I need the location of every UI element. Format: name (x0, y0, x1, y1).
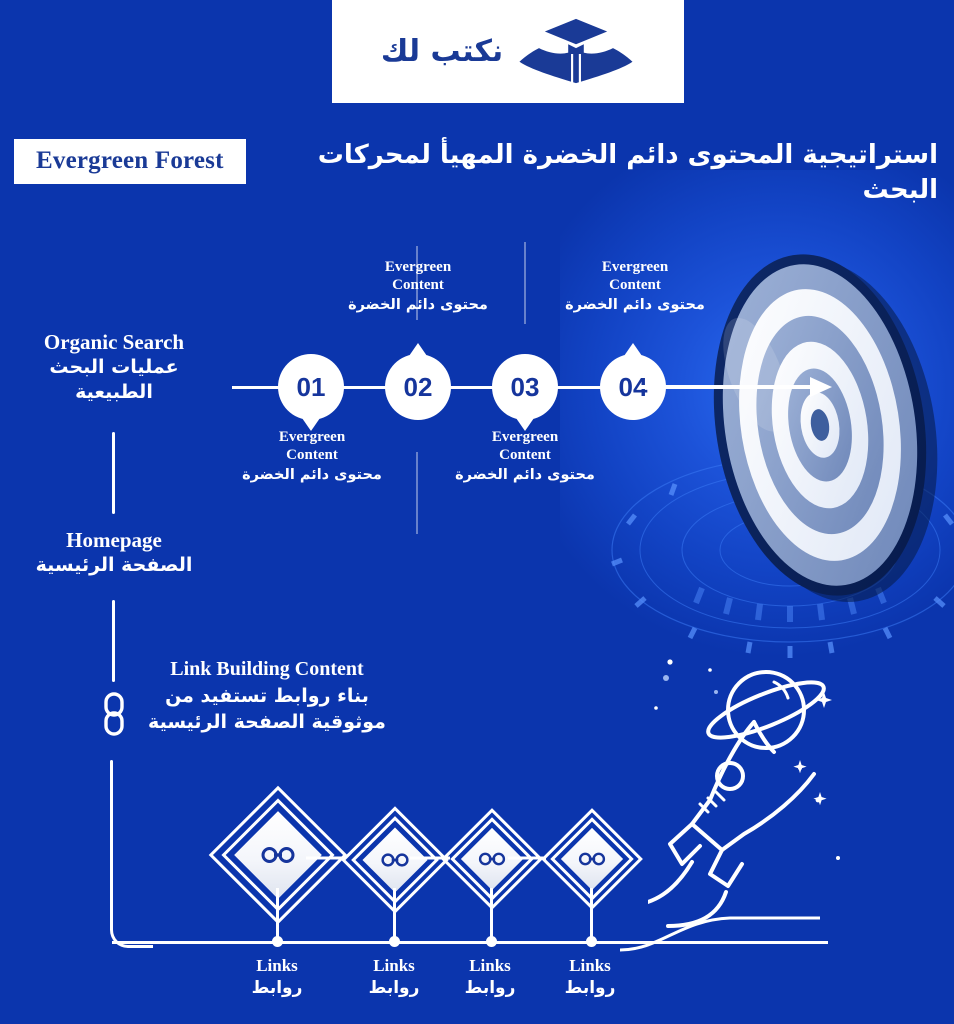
timeline-caption-01-en1: Evergreen (212, 428, 412, 446)
organic-search-label-en: Organic Search (8, 330, 220, 354)
timeline-caption-01: Evergreen Content محتوى دائم الخضرة (212, 428, 412, 486)
timeline-node-03-number: 03 (511, 372, 540, 403)
brand-logo-text: نكتب لك (381, 34, 503, 69)
timeline-caption-03-ar: محتوى دائم الخضرة (425, 466, 625, 486)
timeline-node-03[interactable]: 03 (492, 354, 558, 420)
link-label-1: Links روابط (217, 956, 337, 999)
connector-organic-to-homepage (112, 432, 115, 514)
graduation-cap-book-icon (517, 15, 635, 89)
chain-link-icon (579, 851, 606, 867)
timeline-caption-01-ar: محتوى دائم الخضرة (212, 466, 412, 486)
brand-logo-box: نكتب لك (332, 0, 684, 103)
arrow-to-target-icon (640, 370, 840, 404)
organic-search-label-ar-2: الطبيعية (8, 380, 220, 404)
link-diamond-4-glyph (579, 851, 606, 867)
link-label-1-ar: روابط (217, 977, 337, 999)
page-title-arabic: استراتيجية المحتوى دائم الخضرة المهيأ لم… (278, 138, 938, 208)
rocket-trail-to-baseline (620, 900, 820, 960)
connector-linkbuilding-to-baseline (110, 760, 113, 920)
timeline-divider-2 (524, 242, 526, 324)
infographic-canvas: نكتب لك Evergreen Forest استراتيجية المح… (0, 0, 954, 1024)
link-building-label-ar-1: بناء روابط تستفيد من (128, 684, 406, 709)
timeline-caption-03: Evergreen Content محتوى دائم الخضرة (425, 428, 625, 486)
link-label-4-ar: روابط (530, 977, 650, 999)
chain-link-icon (261, 845, 295, 865)
homepage-block: Homepage الصفحة الرئيسية (8, 528, 220, 577)
timeline-caption-02-en2: Content (318, 276, 518, 294)
timeline-node-01[interactable]: 01 (278, 354, 344, 420)
timeline-caption-03-en1: Evergreen (425, 428, 625, 446)
organic-search-block: Organic Search عمليات البحث الطبيعية (8, 330, 220, 405)
diamond-connectors (300, 838, 580, 878)
link-dot-4 (586, 936, 597, 947)
connector-homepage-to-linkbuilding (112, 600, 115, 682)
timeline-caption-02: Evergreen Content محتوى دائم الخضرة (318, 258, 518, 316)
link-dot-3 (486, 936, 497, 947)
timeline-caption-01-en2: Content (212, 446, 412, 464)
link-label-1-en: Links (217, 956, 337, 976)
homepage-label-ar: الصفحة الرئيسية (8, 553, 220, 577)
timeline-node-01-number: 01 (297, 372, 326, 403)
chain-link-icon (100, 688, 128, 740)
timeline-node-02-number: 02 (404, 372, 433, 403)
timeline-caption-02-ar: محتوى دائم الخضرة (318, 296, 518, 316)
link-building-label-en: Link Building Content (128, 658, 406, 682)
link-label-4: Links روابط (530, 956, 650, 999)
timeline-node-02[interactable]: 02 (385, 354, 451, 420)
title-chip-evergreen-forest: Evergreen Forest (14, 139, 246, 184)
link-building-block: Link Building Content بناء روابط تستفيد … (128, 658, 406, 735)
link-building-label-ar-2: موثوقية الصفحة الرئيسية (128, 710, 406, 735)
timeline-divider-3 (416, 452, 418, 534)
link-dot-1 (272, 936, 283, 947)
organic-search-label-ar-1: عمليات البحث (8, 355, 220, 379)
homepage-label-en: Homepage (8, 528, 220, 552)
timeline-caption-02-en1: Evergreen (318, 258, 518, 276)
timeline-caption-03-en2: Content (425, 446, 625, 464)
link-dot-2 (389, 936, 400, 947)
target-bullseye-icon (660, 210, 954, 630)
link-diamond-1-glyph (261, 845, 295, 865)
